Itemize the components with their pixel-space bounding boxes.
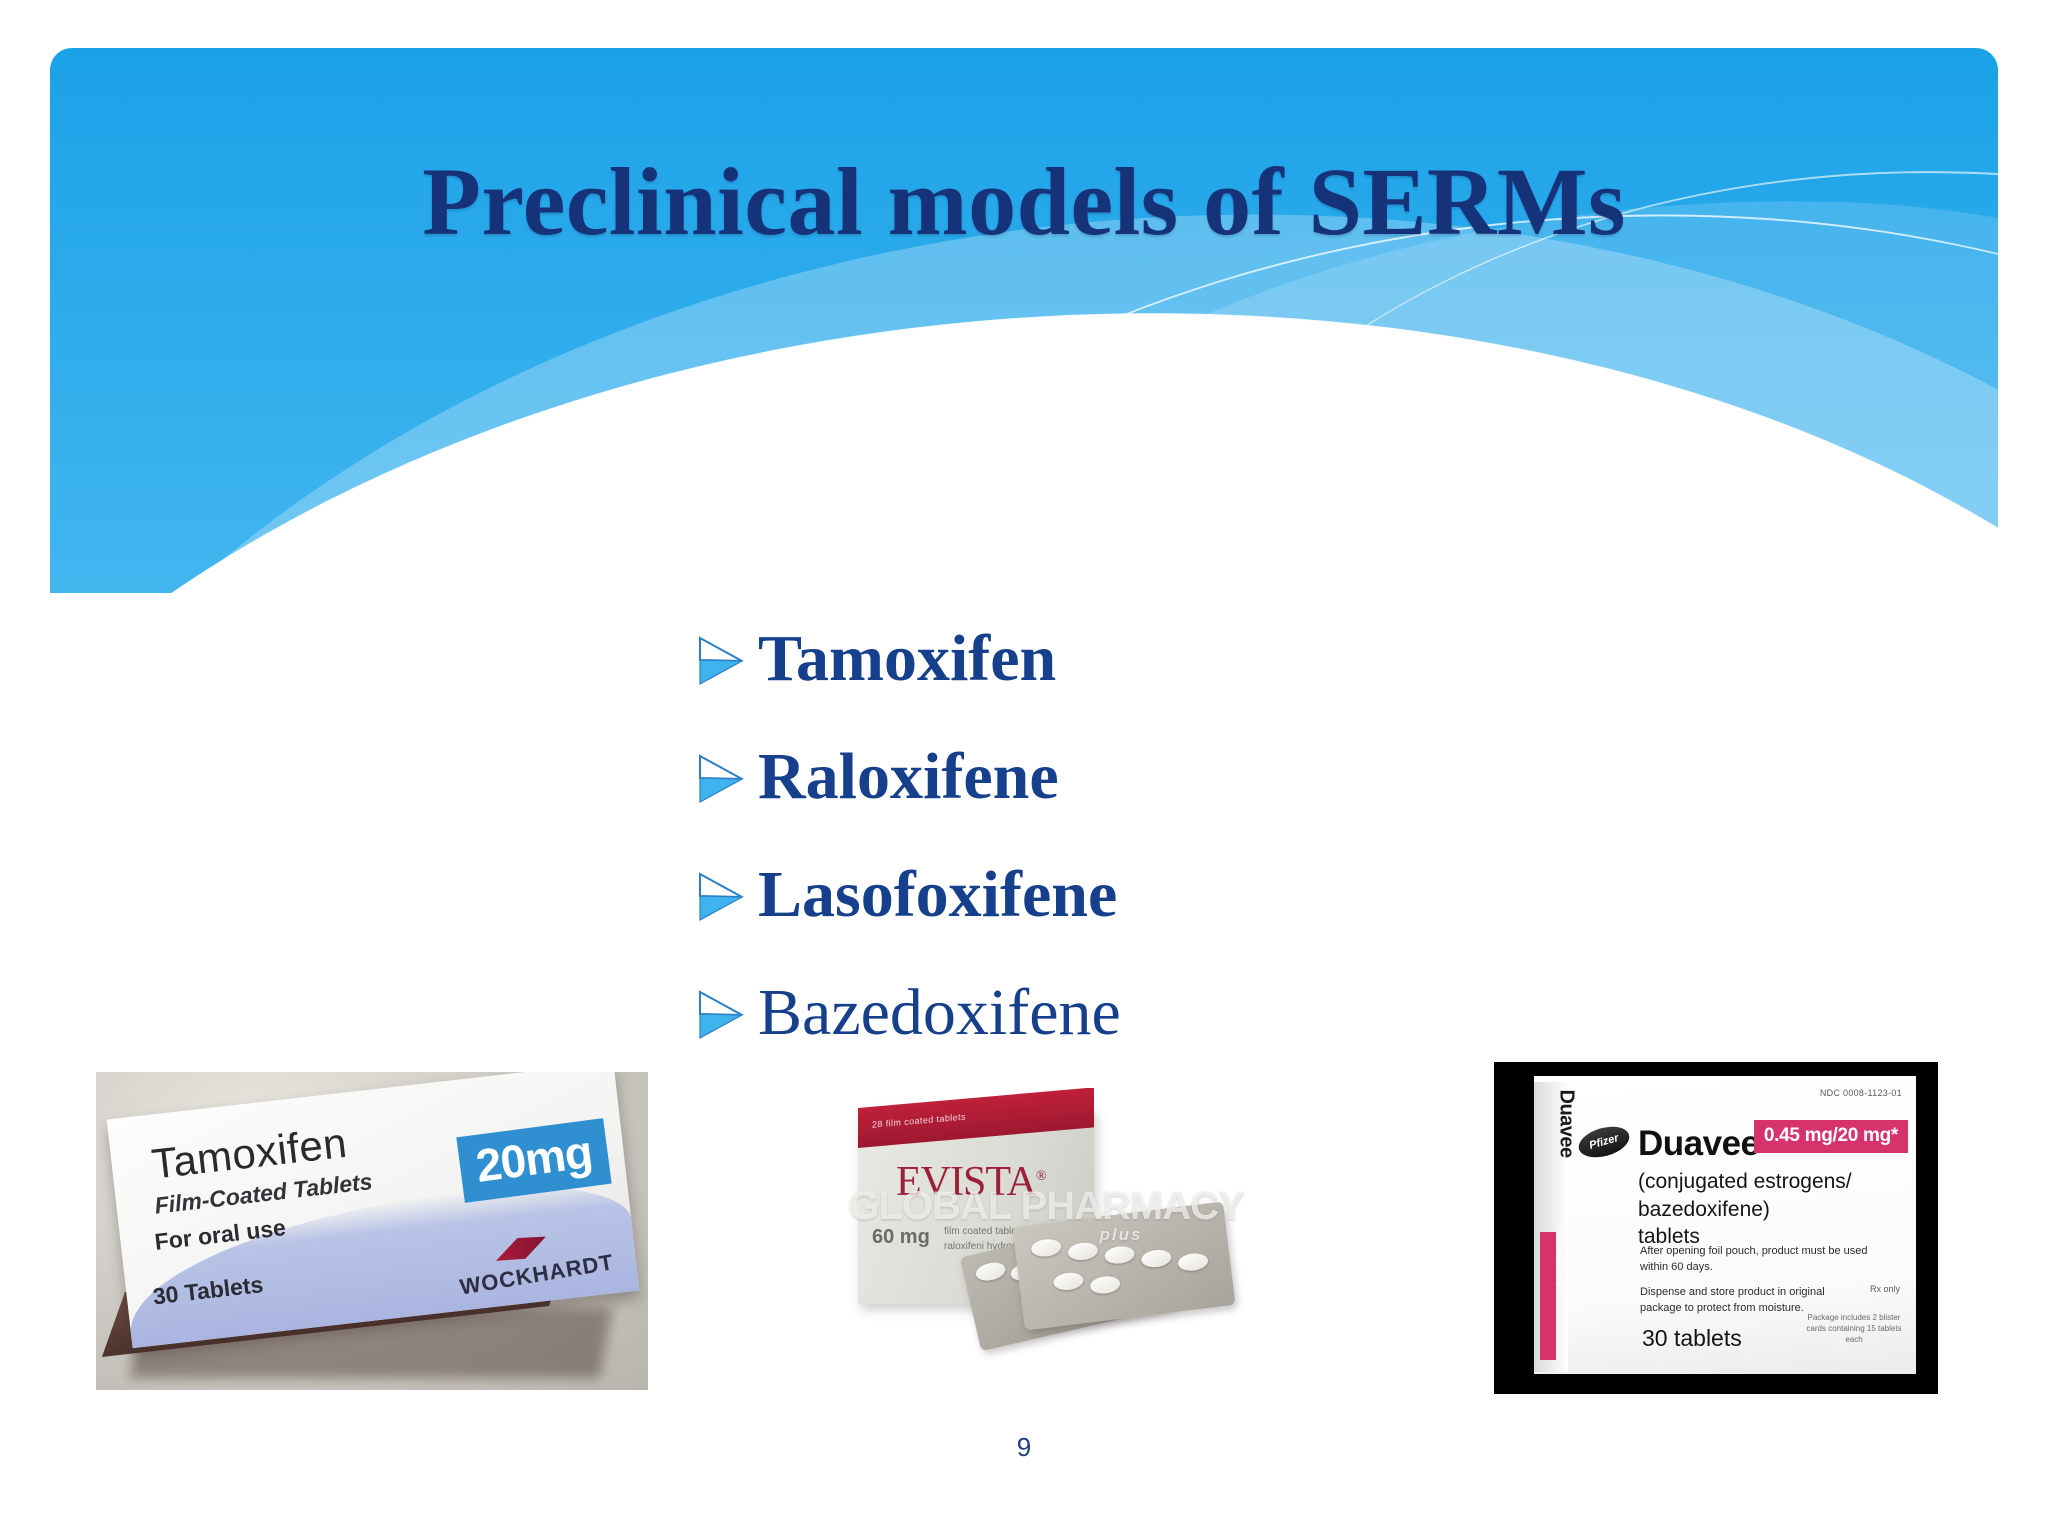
duavee-ndc-code: NDC 0008-1123-01 <box>1820 1088 1902 1098</box>
duavee-instruction-1: After opening foil pouch, product must b… <box>1640 1244 1868 1276</box>
tamoxifen-dose-badge: 20mg <box>456 1118 612 1203</box>
arrow-bullet-icon <box>690 866 752 928</box>
pfizer-logo-text: Pfizer <box>1575 1121 1633 1162</box>
duavee-product-name: Duavee® <box>1638 1124 1769 1164</box>
slide-number: 9 <box>0 1432 2048 1463</box>
evista-registered-mark: ® <box>1036 1169 1046 1184</box>
duavee-tablet-count: 30 tablets <box>1642 1325 1742 1352</box>
evista-dose: 60 mg <box>872 1226 930 1249</box>
duavee-spine-strength-band: 0.45 mg/20 mg* <box>1540 1232 1556 1360</box>
pfizer-logo-icon: Pfizer <box>1575 1121 1633 1162</box>
list-item-label: Tamoxifen <box>758 626 1056 692</box>
duavee-name-text: Duavee <box>1638 1124 1760 1163</box>
list-item-label: Bazedoxifene <box>758 980 1121 1046</box>
evista-red-band: 28 film coated tablets <box>858 1088 1094 1148</box>
duavee-strength-text: 0.45 mg/20 mg* <box>1764 1125 1898 1146</box>
duavee-package-note: Package includes 2 blister cards contain… <box>1806 1312 1902 1346</box>
duavee-carton: Duavee 0.45 mg/20 mg* NDC 0008-1123-01 P… <box>1534 1076 1916 1374</box>
duavee-spine-name: Duavee <box>1555 1090 1578 1210</box>
list-item-label: Raloxifene <box>758 744 1059 810</box>
duavee-generic-line-2: bazedoxifene) <box>1638 1196 1852 1224</box>
duavee-generic-line-1: (conjugated estrogens/ <box>1638 1168 1852 1196</box>
bullet-list: Tamoxifen Raloxifene Lasofoxifene <box>690 600 1590 1072</box>
product-photo-evista: 28 film coated tablets EVISTA® 60 mg fil… <box>840 1088 1252 1390</box>
duavee-carton-spine: Duavee 0.45 mg/20 mg* <box>1534 1082 1568 1372</box>
tamoxifen-dose-text: 20mg <box>473 1125 595 1192</box>
duavee-spine-strength: 0.45 mg/20 mg* <box>1556 1231 1565 1347</box>
slide-title: Preclinical models of SERMs <box>50 150 1998 254</box>
duavee-strength-badge: 0.45 mg/20 mg* <box>1754 1120 1908 1153</box>
presentation-slide: Preclinical models of SERMs Tamoxifen Ra… <box>0 0 2048 1536</box>
list-item[interactable]: Raloxifene <box>690 718 1590 836</box>
duavee-generic-name: (conjugated estrogens/ bazedoxifene) tab… <box>1638 1168 1852 1251</box>
arrow-bullet-icon <box>690 748 752 810</box>
slide-header-banner <box>50 48 1998 593</box>
evista-name-text: EVISTA <box>896 1159 1036 1205</box>
arrow-bullet-icon <box>690 630 752 692</box>
arrow-bullet-icon <box>690 984 752 1046</box>
product-photo-duavee: Duavee 0.45 mg/20 mg* NDC 0008-1123-01 P… <box>1494 1062 1938 1394</box>
list-item[interactable]: Tamoxifen <box>690 600 1590 718</box>
evista-band-text: 28 film coated tablets <box>872 1112 966 1130</box>
list-item-label: Lasofoxifene <box>758 862 1117 928</box>
list-item[interactable]: Lasofoxifene <box>690 836 1590 954</box>
duavee-rx-only: Rx only <box>1870 1284 1900 1294</box>
product-photo-tamoxifen: Tamoxifen Film-Coated Tablets For oral u… <box>96 1072 648 1390</box>
list-item[interactable]: Bazedoxifene <box>690 954 1590 1072</box>
evista-product-name: EVISTA® <box>896 1158 1046 1206</box>
